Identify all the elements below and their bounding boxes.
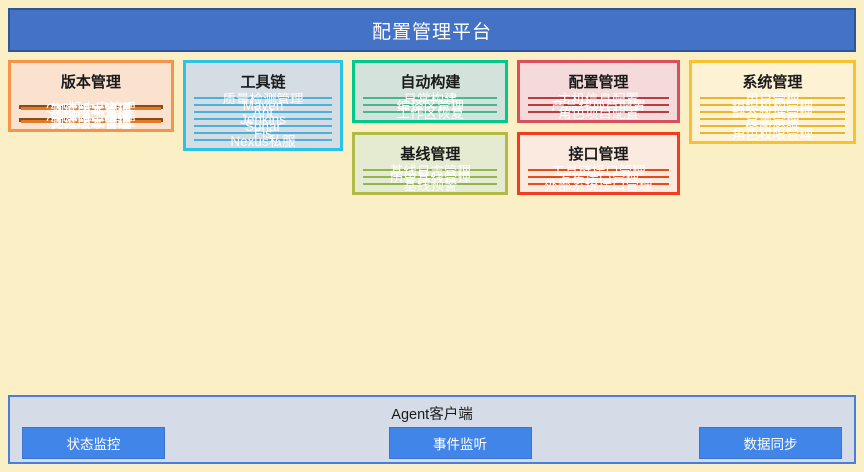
agent-button-event-listener[interactable]: 事件监听: [389, 427, 532, 459]
panel-baseline-management[interactable]: 基线管理 基线日志管理 历史基线管理 基线预警: [352, 132, 508, 195]
page-title: 配置管理平台: [372, 17, 492, 44]
item-workspace-recovery[interactable]: 工作区恢复: [363, 111, 497, 113]
panel-auto-build[interactable]: 自动构建 日常构建 编译区管理 工作区恢复: [352, 60, 508, 123]
panel-title-version-management: 版本管理: [19, 68, 163, 97]
item-role-project-config[interactable]: 角色项目配置: [528, 111, 668, 113]
module-columns: 版本管理 GIT版本库管理 生产版本管理 测试版本管理 开发版本管理 GIT版本…: [8, 60, 856, 387]
column-build-and-baseline: 自动构建 日常构建 编译区管理 工作区恢复 基线管理 基线日志管理 历史基线管理…: [352, 60, 508, 387]
item-external-system-api-management[interactable]: 外部系统接口管理: [528, 183, 668, 185]
platform-title-bar: 配置管理平台: [8, 8, 856, 52]
item-baseline-alert[interactable]: 基线预警: [363, 183, 497, 185]
panel-config-management[interactable]: 配置管理 主机信息配置 产品线项目配置 角色项目配置: [517, 60, 679, 123]
panel-items-baseline-management: 基线日志管理 历史基线管理 基线预警: [363, 169, 497, 185]
diagram-canvas: 配置管理平台 版本管理 GIT版本库管理 生产版本管理 测试版本管理 开发版本管…: [0, 0, 864, 472]
column-config-and-api: 配置管理 主机信息配置 产品线项目配置 角色项目配置 接口管理 工具链接口管理 …: [517, 60, 679, 387]
agent-client-panel: Agent客户端 状态监控 事件监听 数据同步: [8, 395, 856, 464]
version-block-2: GIT版本库管理 生产版本管理 测试版本管理 开发版本管理: [19, 118, 163, 122]
agent-button-data-sync[interactable]: 数据同步: [699, 427, 842, 459]
panel-items-tool-chain: 质量检测管理 Maven Ant Jenkins Sonar Fis Nexus…: [194, 97, 333, 141]
panel-items-config-management: 主机信息配置 产品线项目配置 角色项目配置: [528, 97, 668, 113]
panel-items-api-management: 工具链接口管理 发布接口管理 外部系统接口管理: [528, 169, 668, 185]
item-nexus-private-server[interactable]: Nexus私服: [194, 139, 333, 141]
agent-button-status-monitor[interactable]: 状态监控: [22, 427, 165, 459]
version-block-1: GIT版本库管理 生产版本管理 测试版本管理 开发版本管理: [19, 105, 163, 109]
panel-items-system-management: 用户管理 组织机构管理 静态数据管理 日志管理 修改密码 角色权限管理: [700, 97, 845, 134]
panel-api-management[interactable]: 接口管理 工具链接口管理 发布接口管理 外部系统接口管理: [517, 132, 679, 195]
column-version-management: 版本管理 GIT版本库管理 生产版本管理 测试版本管理 开发版本管理 GIT版本…: [8, 60, 174, 387]
item-role-permission-management[interactable]: 角色权限管理: [700, 132, 845, 134]
agent-client-title: Agent客户端: [10, 397, 854, 427]
panel-tool-chain[interactable]: 工具链 质量检测管理 Maven Ant Jenkins Sonar Fis N…: [183, 60, 344, 151]
panel-system-management[interactable]: 系统管理 用户管理 组织机构管理 静态数据管理 日志管理 修改密码 角色权限管理: [689, 60, 856, 144]
panel-version-management[interactable]: 版本管理 GIT版本库管理 生产版本管理 测试版本管理 开发版本管理 GIT版本…: [8, 60, 174, 132]
panel-items-version-management: GIT版本库管理 生产版本管理 测试版本管理 开发版本管理 GIT版本库管理 生…: [19, 105, 163, 122]
panel-items-auto-build: 日常构建 编译区管理 工作区恢复: [363, 97, 497, 113]
column-system-management: 系统管理 用户管理 组织机构管理 静态数据管理 日志管理 修改密码 角色权限管理: [689, 60, 856, 387]
agent-client-buttons: 状态监控 事件监听 数据同步: [10, 427, 854, 465]
column-tool-chain: 工具链 质量检测管理 Maven Ant Jenkins Sonar Fis N…: [183, 60, 344, 387]
